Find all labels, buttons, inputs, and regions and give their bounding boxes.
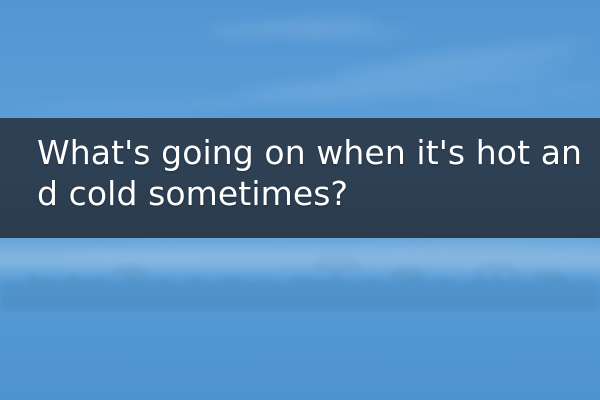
cirrus-cloud-streak <box>330 47 580 82</box>
cirrus-cloud-streak <box>10 102 240 116</box>
cirrus-cloud-streak <box>285 29 415 42</box>
caption-question-text: What's going on when it's hot and cold s… <box>37 132 584 214</box>
cirrus-cloud-streak <box>180 86 480 108</box>
caption-banner: What's going on when it's hot and cold s… <box>0 118 600 238</box>
screenshot-root: What's going on when it's hot and cold s… <box>0 0 600 400</box>
cirrus-cloud-streak <box>430 85 600 108</box>
cirrus-cloud-streak <box>240 66 570 101</box>
cirrus-cloud-streak <box>400 36 600 66</box>
cirrus-cloud-streak <box>205 17 380 38</box>
